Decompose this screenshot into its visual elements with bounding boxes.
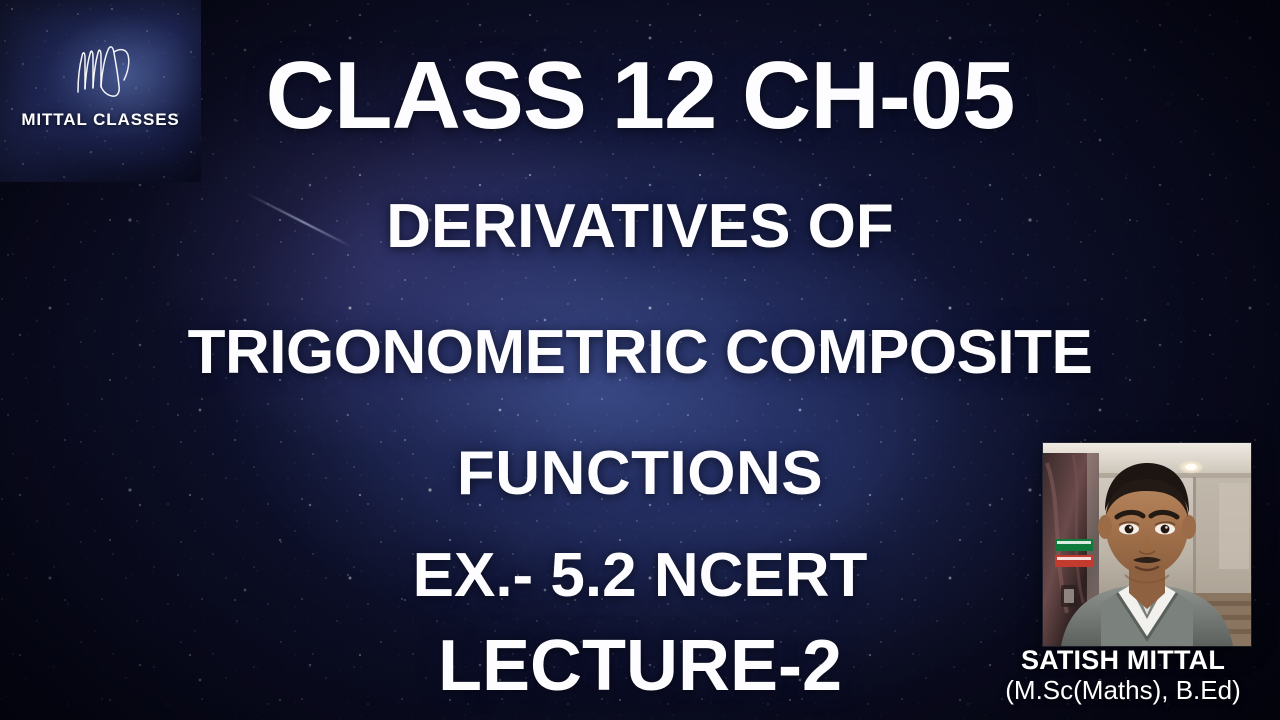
title-line-trigonometric-composite: TRIGONOMETRIC COMPOSITE <box>0 322 1280 384</box>
presenter-info: SATISH MITTAL (M.Sc(Maths), B.Ed) <box>966 645 1280 705</box>
presenter-photo <box>1043 443 1251 646</box>
presenter-name: SATISH MITTAL <box>966 645 1280 675</box>
title-line-derivatives-of: DERIVATIVES OF <box>0 196 1280 258</box>
presenter-credentials: (M.Sc(Maths), B.Ed) <box>966 676 1280 705</box>
video-thumbnail: MITTAL CLASSES CLASS 12 CH-05 DERIVATIVE… <box>0 0 1280 720</box>
title-line-class-chapter: CLASS 12 CH-05 <box>0 48 1280 144</box>
